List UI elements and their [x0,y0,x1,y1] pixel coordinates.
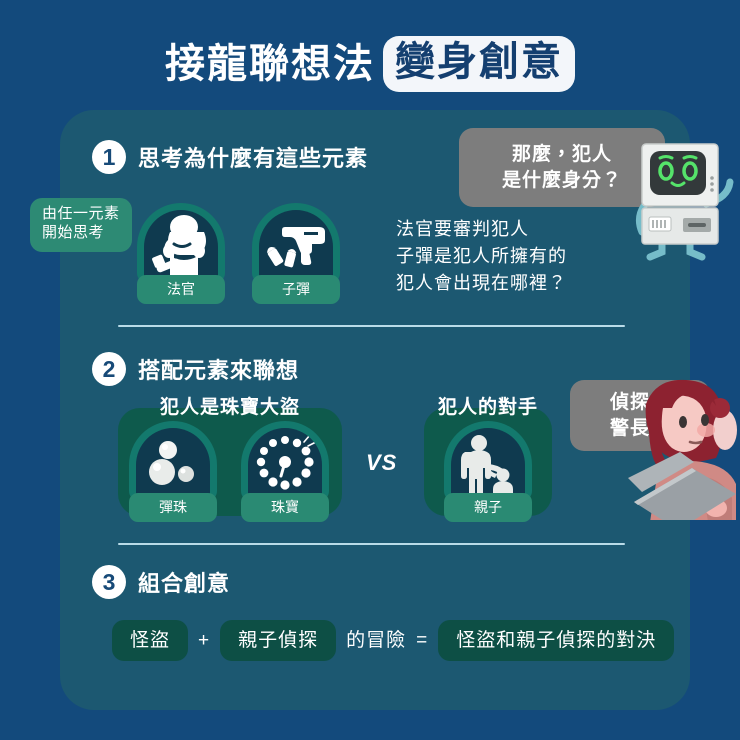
parent-child-icon [451,428,525,501]
section-1-note-2: 子彈是犯人所擁有的 [396,243,567,270]
page-title: 接龍聯想法 變身創意 [0,36,740,92]
start-anywhere-tag-line1: 由任一元素 [42,205,120,224]
element-card-marbles[interactable]: 彈珠 [129,421,217,522]
jewelry-icon [248,428,322,501]
section-1-note-1: 法官要審判犯人 [396,216,567,243]
formula-result[interactable]: 怪盜和親子偵探的對決 [438,620,674,661]
group-thief-title: 犯人是珠寶大盜 [118,392,342,419]
title-highlight-badge: 變身創意 [383,36,575,92]
formula-term-thief[interactable]: 怪盜 [112,620,188,661]
section-2-title: 搭配元素來聯想 [138,353,299,385]
card-dome [129,421,217,501]
section-2-header: 2 搭配元素來聯想 [92,352,299,386]
element-card-bullet-label: 子彈 [252,275,340,304]
element-card-jewelry-label: 珠寶 [241,493,329,522]
start-anywhere-tag-line2: 開始思考 [42,224,120,243]
section-3-title: 組合創意 [138,566,230,598]
formula-suffix-adventure: 的冒險 [346,631,406,650]
section-1-header: 1 思考為什麼有這些元素 [92,140,368,174]
formula-term-parent-child-detective[interactable]: 親子偵探 [220,620,336,661]
divider-2 [118,543,625,545]
formula-operator-plus: + [198,631,210,650]
element-card-parent-child[interactable]: 親子 [444,421,532,522]
card-icon-area [451,428,525,501]
girl-character [628,378,740,520]
section-1-number: 1 [92,140,126,174]
start-anywhere-tag: 由任一元素 開始思考 [30,198,132,252]
card-icon-area [144,210,218,283]
section-1-note-3: 犯人會出現在哪裡？ [396,270,567,297]
element-card-judge-label: 法官 [137,275,225,304]
section-2-number: 2 [92,352,126,386]
element-card-marbles-label: 彈珠 [129,493,217,522]
card-dome [137,203,225,283]
card-icon-area [259,210,333,283]
versus-label: VS [366,450,397,476]
judge-icon [144,210,218,283]
bullet-gun-icon [259,210,333,283]
card-dome [444,421,532,501]
divider-1 [118,325,625,327]
section-1-title: 思考為什麼有這些元素 [138,141,368,173]
card-icon-area [136,428,210,501]
card-dome [241,421,329,501]
element-card-judge[interactable]: 法官 [137,203,225,304]
infographic-root: 接龍聯想法 變身創意 1 思考為什麼有這些元素 由任一元素 開始思考 [0,0,740,740]
retro-computer-robot-icon [630,138,736,262]
section-3-number: 3 [92,565,126,599]
creative-formula: 怪盜 + 親子偵探 的冒險 = 怪盜和親子偵探的對決 [112,620,674,661]
marbles-icon [136,428,210,501]
formula-operator-equals: = [416,631,428,650]
robot-character [630,138,736,262]
element-card-parent-child-label: 親子 [444,493,532,522]
title-main-text: 接龍聯想法 [165,44,375,84]
robot-speech-line1: 那麼，犯人 [477,142,647,168]
card-dome [252,203,340,283]
section-3-header: 3 組合創意 [92,565,230,599]
card-icon-area [248,428,322,501]
section-1-notes: 法官要審判犯人 子彈是犯人所擁有的 犯人會出現在哪裡？ [396,216,567,297]
element-card-jewelry[interactable]: 珠寶 [241,421,329,522]
element-card-bullet[interactable]: 子彈 [252,203,340,304]
group-opponent-title: 犯人的對手 [424,392,552,419]
girl-with-laptop-icon [628,378,740,520]
robot-speech-line2: 是什麼身分？ [477,168,647,194]
